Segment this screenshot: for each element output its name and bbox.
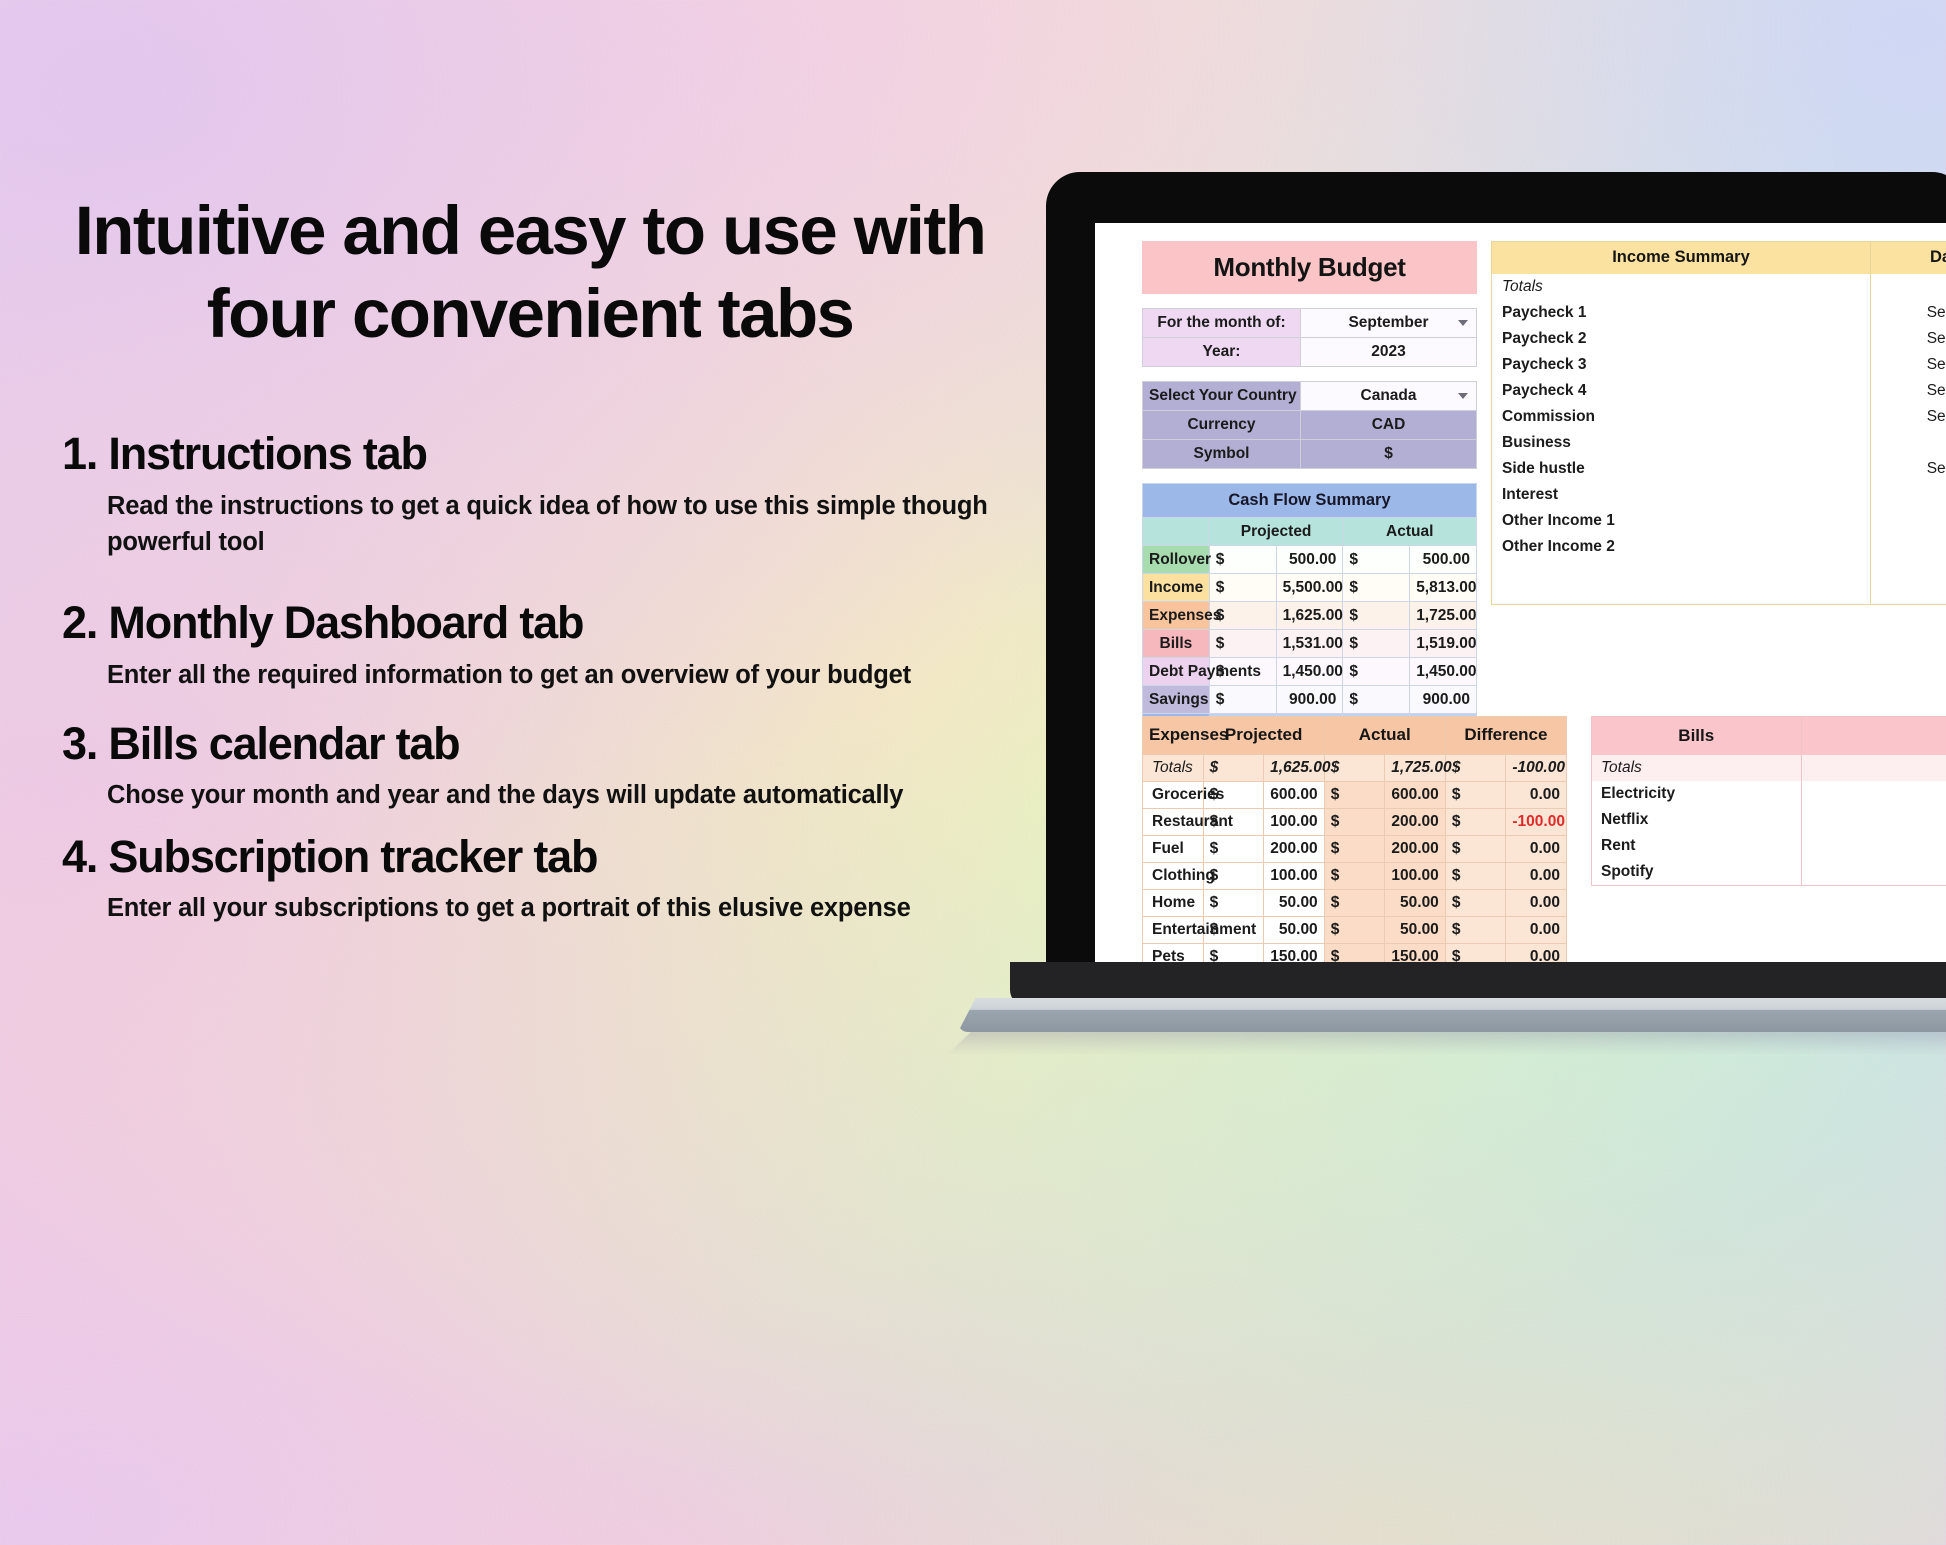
- row-label: Other Income 1: [1492, 508, 1871, 534]
- actual-value: 1,725.00: [1385, 755, 1446, 782]
- projected-value: 1,625.00: [1276, 602, 1343, 630]
- income-summary-panel: Income Summary Da Totals Paycheck 1 Sep: [1491, 241, 1946, 605]
- row-date: [1871, 508, 1946, 534]
- currency-symbol: $: [1445, 809, 1506, 836]
- form-row-country: Select Your Country Canada: [1143, 382, 1477, 411]
- expenses-header-actual: Actual: [1324, 717, 1445, 755]
- country-select[interactable]: Canada: [1301, 382, 1477, 411]
- actual-value: 1,725.00: [1410, 602, 1477, 630]
- chevron-down-icon: [1458, 320, 1468, 326]
- totals-label: Totals: [1592, 755, 1802, 781]
- currency-symbol: $: [1209, 574, 1276, 602]
- row-value: [1801, 781, 1946, 807]
- income-summary-table: Income Summary Da Totals Paycheck 1 Sep: [1491, 241, 1946, 605]
- currency-symbol: $: [1445, 836, 1506, 863]
- bills-title: Bills: [1592, 717, 1802, 755]
- projected-value: 200.00: [1264, 836, 1325, 863]
- row-label: Rent: [1592, 833, 1802, 859]
- blank-cell: [1492, 582, 1871, 605]
- table-row: Pets $ 150.00 $ 150.00 $ 0.00: [1143, 944, 1567, 963]
- table-row: Other Income 1: [1492, 508, 1946, 534]
- difference-value: 0.00: [1506, 890, 1567, 917]
- difference-value: 0.00: [1506, 917, 1567, 944]
- projected-value: 100.00: [1264, 809, 1325, 836]
- table-row: Entertainment $ 50.00 $ 50.00 $ 0.00: [1143, 917, 1567, 944]
- month-label: For the month of:: [1143, 309, 1301, 338]
- currency-label: Currency: [1143, 411, 1301, 440]
- table-row: Paycheck 2 Sep: [1492, 326, 1946, 352]
- form-row-currency: Currency CAD: [1143, 411, 1477, 440]
- list-item-desc: Enter all your subscriptions to get a po…: [62, 890, 992, 926]
- country-label: Select Your Country: [1143, 382, 1301, 411]
- page-title: Intuitive and easy to use with four conv…: [60, 190, 1000, 356]
- year-input[interactable]: 2023: [1301, 338, 1477, 367]
- table-row: Paycheck 1 Sep: [1492, 300, 1946, 326]
- projected-value: 500.00: [1276, 546, 1343, 574]
- bills-header-blank: [1801, 717, 1946, 755]
- row-label: Restaurant: [1143, 809, 1204, 836]
- year-label: Year:: [1143, 338, 1301, 367]
- row-label: Spotify: [1592, 859, 1802, 886]
- currency-symbol: $: [1445, 755, 1506, 782]
- currency-symbol: $: [1445, 944, 1506, 963]
- table-row: Interest: [1492, 482, 1946, 508]
- table-row: Commission Sep: [1492, 404, 1946, 430]
- list-item: 2. Monthly Dashboard tab Enter all the r…: [62, 594, 1062, 693]
- row-date: Sep: [1871, 456, 1946, 482]
- currency-symbol: $: [1209, 686, 1276, 714]
- laptop-mockup: Monthly Budget For the month of: Septemb…: [1046, 172, 1946, 1012]
- table-row-totals: Totals: [1592, 755, 1946, 781]
- form-row-year: Year: 2023: [1143, 338, 1477, 367]
- actual-value: 50.00: [1385, 890, 1446, 917]
- blank-cell: [1871, 560, 1946, 583]
- row-label: Other Income 2: [1492, 534, 1871, 560]
- monthly-budget-panel: Monthly Budget For the month of: Septemb…: [1142, 241, 1477, 742]
- actual-value: 500.00: [1410, 546, 1477, 574]
- table-row: Clothing $ 100.00 $ 100.00 $ 0.00: [1143, 863, 1567, 890]
- currency-symbol: $: [1209, 602, 1276, 630]
- currency-symbol: $: [1324, 863, 1385, 890]
- list-item: 4. Subscription tracker tab Enter all yo…: [62, 828, 1062, 927]
- month-select[interactable]: September: [1301, 309, 1477, 338]
- cash-flow-header-blank: [1143, 518, 1210, 546]
- bills-panel: Bills Totals Electricity Netflix: [1591, 716, 1946, 886]
- table-row: Rollover $ 500.00 $ 500.00: [1143, 546, 1477, 574]
- blank-cell: [1492, 560, 1871, 583]
- projected-value: 100.00: [1264, 863, 1325, 890]
- income-summary-date-header: Da: [1871, 242, 1946, 274]
- list-item-desc: Read the instructions to get a quick ide…: [62, 488, 992, 560]
- projected-value: 1,625.00: [1264, 755, 1325, 782]
- spreadsheet-title: Monthly Budget: [1142, 241, 1477, 294]
- actual-value: 100.00: [1385, 863, 1446, 890]
- country-form: Select Your Country Canada Currency CAD …: [1142, 381, 1477, 469]
- table-row: Other Income 2: [1492, 534, 1946, 560]
- table-row-totals: Totals $ 1,625.00 $ 1,725.00 $ -100.00: [1143, 755, 1567, 782]
- row-label: Groceries: [1143, 782, 1204, 809]
- totals-date: [1871, 274, 1946, 300]
- row-value: [1801, 859, 1946, 886]
- income-summary-header-row: Income Summary Da: [1492, 242, 1946, 274]
- expenses-table: Expenses Projected Actual Difference Tot…: [1142, 716, 1567, 962]
- difference-value: -100.00: [1506, 755, 1567, 782]
- currency-symbol: $: [1445, 890, 1506, 917]
- table-row: Netflix: [1592, 807, 1946, 833]
- expenses-header-row: Expenses Projected Actual Difference: [1143, 717, 1567, 755]
- row-label: Business: [1492, 430, 1871, 456]
- table-row: Rent: [1592, 833, 1946, 859]
- cash-flow-title-row: Cash Flow Summary: [1143, 484, 1477, 518]
- row-date: [1871, 482, 1946, 508]
- laptop-lid: Monthly Budget For the month of: Septemb…: [1046, 172, 1946, 962]
- table-row-blank: [1492, 582, 1946, 605]
- table-row: Bills $ 1,531.00 $ 1,519.00: [1143, 630, 1477, 658]
- currency-symbol: $: [1343, 630, 1410, 658]
- income-summary-title: Income Summary: [1492, 242, 1871, 274]
- difference-value: 0.00: [1506, 863, 1567, 890]
- difference-value: 0.00: [1506, 836, 1567, 863]
- currency-symbol: $: [1324, 944, 1385, 963]
- table-row: Side hustle Sep: [1492, 456, 1946, 482]
- bills-table: Bills Totals Electricity Netflix: [1591, 716, 1946, 886]
- actual-value: 1,450.00: [1410, 658, 1477, 686]
- actual-value: 1,519.00: [1410, 630, 1477, 658]
- table-row: Electricity: [1592, 781, 1946, 807]
- currency-symbol: $: [1203, 782, 1264, 809]
- table-row: Paycheck 3 Sep: [1492, 352, 1946, 378]
- row-date: Sep: [1871, 300, 1946, 326]
- list-item-title: 3. Bills calendar tab: [62, 715, 1062, 773]
- table-row: Home $ 50.00 $ 50.00 $ 0.00: [1143, 890, 1567, 917]
- row-label: Commission: [1492, 404, 1871, 430]
- currency-symbol: $: [1209, 546, 1276, 574]
- row-label: Paycheck 3: [1492, 352, 1871, 378]
- row-label: Debt Payments: [1143, 658, 1210, 686]
- currency-symbol: $: [1209, 630, 1276, 658]
- row-label: Side hustle: [1492, 456, 1871, 482]
- table-row: Paycheck 4 Sep: [1492, 378, 1946, 404]
- row-label: Entertainment: [1143, 917, 1204, 944]
- cash-flow-header-actual: Actual: [1343, 518, 1477, 546]
- difference-value: 0.00: [1506, 944, 1567, 963]
- currency-symbol: $: [1203, 863, 1264, 890]
- table-row: Fuel $ 200.00 $ 200.00 $ 0.00: [1143, 836, 1567, 863]
- currency-symbol: $: [1343, 574, 1410, 602]
- row-label: Savings: [1143, 686, 1210, 714]
- laptop-screen: Monthly Budget For the month of: Septemb…: [1095, 223, 1946, 962]
- row-date: Sep: [1871, 352, 1946, 378]
- projected-value: 150.00: [1264, 944, 1325, 963]
- chevron-down-icon: [1458, 393, 1468, 399]
- projected-value: 600.00: [1264, 782, 1325, 809]
- currency-symbol: $: [1445, 917, 1506, 944]
- row-label: Income: [1143, 574, 1210, 602]
- country-value: Canada: [1361, 387, 1417, 404]
- projected-value: 50.00: [1264, 917, 1325, 944]
- row-value: [1801, 807, 1946, 833]
- list-item-title: 4. Subscription tracker tab: [62, 828, 1062, 886]
- form-row-symbol: Symbol $: [1143, 440, 1477, 469]
- currency-symbol: $: [1343, 658, 1410, 686]
- row-date: Sep: [1871, 378, 1946, 404]
- currency-symbol: $: [1324, 836, 1385, 863]
- row-label: Rollover: [1143, 546, 1210, 574]
- row-date: Sep: [1871, 404, 1946, 430]
- table-row-totals: Totals: [1492, 274, 1946, 300]
- expenses-panel: Expenses Projected Actual Difference Tot…: [1142, 716, 1567, 962]
- table-row: Spotify: [1592, 859, 1946, 886]
- actual-value: 200.00: [1385, 836, 1446, 863]
- actual-value: 900.00: [1410, 686, 1477, 714]
- cash-flow-header-projected: Projected: [1209, 518, 1343, 546]
- row-label: Paycheck 4: [1492, 378, 1871, 404]
- currency-symbol: $: [1343, 686, 1410, 714]
- list-item-title: 2. Monthly Dashboard tab: [62, 594, 1062, 652]
- row-date: [1871, 430, 1946, 456]
- bills-header-row: Bills: [1592, 717, 1946, 755]
- table-row: Business: [1492, 430, 1946, 456]
- row-label: Paycheck 1: [1492, 300, 1871, 326]
- currency-symbol: $: [1445, 863, 1506, 890]
- month-year-form: For the month of: September Year: 2023: [1142, 308, 1477, 367]
- list-item: 3. Bills calendar tab Chose your month a…: [62, 715, 1062, 814]
- currency-symbol: $: [1445, 782, 1506, 809]
- table-row: Expenses $ 1,625.00 $ 1,725.00: [1143, 602, 1477, 630]
- totals-value: [1801, 755, 1946, 781]
- actual-value: 5,813.00: [1410, 574, 1477, 602]
- cash-flow-header-row: Projected Actual: [1143, 518, 1477, 546]
- month-value: September: [1348, 314, 1428, 331]
- projected-value: 1,450.00: [1276, 658, 1343, 686]
- cash-flow-title: Cash Flow Summary: [1143, 484, 1477, 518]
- currency-symbol: $: [1343, 546, 1410, 574]
- projected-value: 5,500.00: [1276, 574, 1343, 602]
- expenses-header-name: Expenses: [1143, 717, 1204, 755]
- projected-value: 1,531.00: [1276, 630, 1343, 658]
- currency-symbol: $: [1343, 602, 1410, 630]
- currency-symbol: $: [1203, 755, 1264, 782]
- difference-value: 0.00: [1506, 782, 1567, 809]
- projected-value: 900.00: [1276, 686, 1343, 714]
- row-label: Fuel: [1143, 836, 1204, 863]
- table-row-blank: [1492, 560, 1946, 583]
- actual-value: 600.00: [1385, 782, 1446, 809]
- blank-cell: [1871, 582, 1946, 605]
- currency-symbol: $: [1203, 836, 1264, 863]
- currency-symbol: $: [1324, 890, 1385, 917]
- currency-symbol: $: [1203, 944, 1264, 963]
- actual-value: 150.00: [1385, 944, 1446, 963]
- currency-symbol: $: [1203, 809, 1264, 836]
- actual-value: 50.00: [1385, 917, 1446, 944]
- totals-label: Totals: [1492, 274, 1871, 300]
- row-date: Sep: [1871, 326, 1946, 352]
- table-row: Savings $ 900.00 $ 900.00: [1143, 686, 1477, 714]
- table-row: Restaurant $ 100.00 $ 200.00 $ -100.00: [1143, 809, 1567, 836]
- currency-symbol: $: [1324, 782, 1385, 809]
- table-row: Groceries $ 600.00 $ 600.00 $ 0.00: [1143, 782, 1567, 809]
- row-value: [1801, 833, 1946, 859]
- row-label: Bills: [1143, 630, 1210, 658]
- row-label: Clothing: [1143, 863, 1204, 890]
- expenses-header-difference: Difference: [1445, 717, 1566, 755]
- list-item-desc: Enter all the required information to ge…: [62, 657, 992, 693]
- row-label: Netflix: [1592, 807, 1802, 833]
- list-item-desc: Chose your month and year and the days w…: [62, 777, 992, 813]
- form-row-month: For the month of: September: [1143, 309, 1477, 338]
- table-row: Debt Payments $ 1,450.00 $ 1,450.00: [1143, 658, 1477, 686]
- difference-value: -100.00: [1506, 809, 1567, 836]
- row-label: Home: [1143, 890, 1204, 917]
- laptop-base: [958, 998, 1946, 1032]
- row-label: Paycheck 2: [1492, 326, 1871, 352]
- budget-spreadsheet: Monthly Budget For the month of: Septemb…: [1095, 223, 1946, 962]
- projected-value: 50.00: [1264, 890, 1325, 917]
- currency-symbol: $: [1324, 917, 1385, 944]
- row-label: Electricity: [1592, 781, 1802, 807]
- totals-label: Totals: [1143, 755, 1204, 782]
- actual-value: 200.00: [1385, 809, 1446, 836]
- table-row: Income $ 5,500.00 $ 5,813.00: [1143, 574, 1477, 602]
- currency-symbol: $: [1324, 755, 1385, 782]
- list-item-title: 1. Instructions tab: [62, 425, 1062, 483]
- currency-symbol: $: [1203, 890, 1264, 917]
- symbol-value: $: [1301, 440, 1477, 469]
- symbol-label: Symbol: [1143, 440, 1301, 469]
- list-item: 1. Instructions tab Read the instruction…: [62, 425, 1062, 560]
- row-label: Pets: [1143, 944, 1204, 963]
- feature-list: 1. Instructions tab Read the instruction…: [62, 425, 1062, 930]
- cash-flow-summary-table: Cash Flow Summary Projected Actual Rollo…: [1142, 483, 1477, 742]
- row-date: [1871, 534, 1946, 560]
- row-label: Expenses: [1143, 602, 1210, 630]
- currency-symbol: $: [1324, 809, 1385, 836]
- row-label: Interest: [1492, 482, 1871, 508]
- currency-value: CAD: [1301, 411, 1477, 440]
